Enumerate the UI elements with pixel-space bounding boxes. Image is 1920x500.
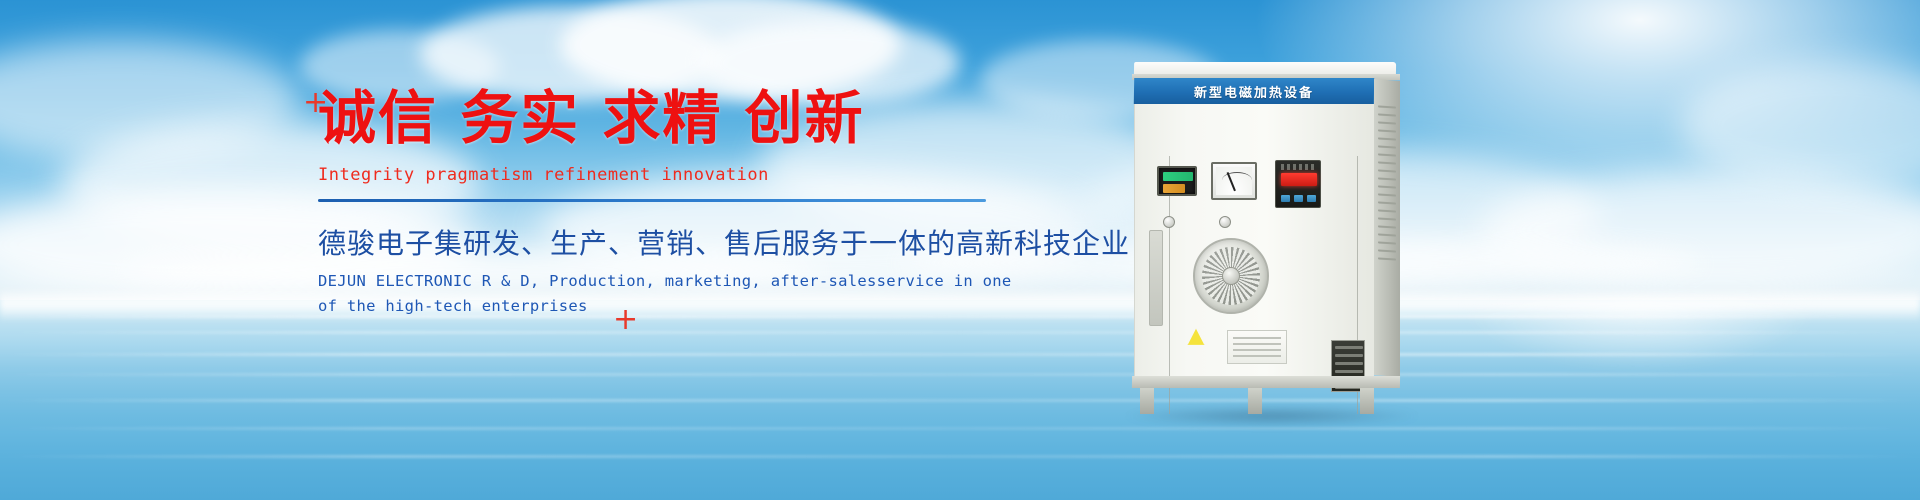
cooling-fan xyxy=(1193,238,1269,314)
machine-base xyxy=(1132,376,1400,388)
machine-label-text: 新型电磁加热设备 xyxy=(1194,82,1314,101)
control-knob xyxy=(1163,216,1175,228)
machine-shadow xyxy=(1122,406,1422,426)
analog-gauge xyxy=(1211,162,1257,200)
digital-display xyxy=(1157,166,1197,196)
banner-text-block: 诚信 务实 求精 创新 Integrity pragmatism refinem… xyxy=(318,86,1018,315)
company-description-chinese: 德骏电子集研发、生产、营销、售后服务于一体的高新科技企业 xyxy=(318,222,1018,262)
machine-leg xyxy=(1140,388,1154,414)
machine-side-panel xyxy=(1374,79,1400,377)
machine-side-strip xyxy=(1149,230,1163,326)
machine-leg xyxy=(1360,388,1374,414)
company-description-english-line1: DEJUN ELECTRONIC R & D, Production, mark… xyxy=(318,272,1018,290)
company-description-english-line2: of the high-tech enterprises xyxy=(318,297,1018,315)
headline-english: Integrity pragmatism refinement innovati… xyxy=(318,165,1018,185)
led-controller xyxy=(1275,160,1321,208)
divider-rule xyxy=(318,199,986,202)
machine-label-strip: 新型电磁加热设备 xyxy=(1134,78,1374,104)
warning-label-icon xyxy=(1187,328,1205,346)
spec-plate xyxy=(1227,330,1287,364)
water-streaks xyxy=(0,295,1920,500)
control-knob xyxy=(1219,216,1231,228)
headline-chinese: 诚信 务实 求精 创新 xyxy=(318,86,1018,151)
machine-body xyxy=(1134,104,1374,376)
product-machine-image: 新型电磁加热设备 xyxy=(1128,62,1448,414)
machine-leg xyxy=(1248,388,1262,414)
promo-banner: + + 诚信 务实 求精 创新 Integrity pragmatism ref… xyxy=(0,0,1920,500)
